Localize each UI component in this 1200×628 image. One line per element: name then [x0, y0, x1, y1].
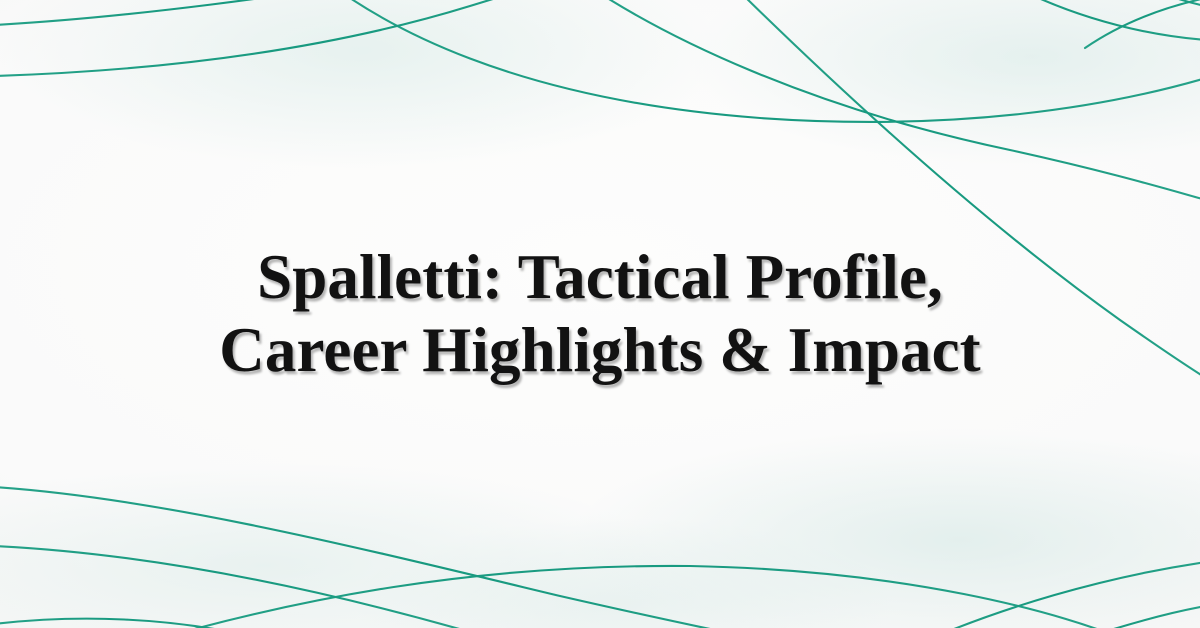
social-card: Spalletti: Tactical Profile, Career High… [0, 0, 1200, 628]
page-title: Spalletti: Tactical Profile, Career High… [160, 241, 1040, 387]
title-block: Spalletti: Tactical Profile, Career High… [0, 0, 1200, 628]
